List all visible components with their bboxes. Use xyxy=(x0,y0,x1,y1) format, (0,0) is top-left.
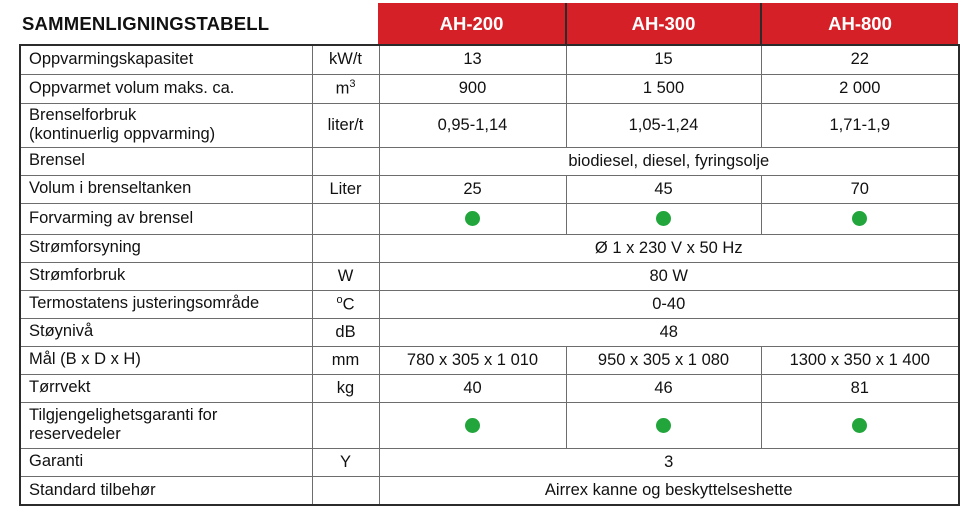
row-value-ah-800 xyxy=(761,402,959,448)
row-value-ah-800: 1,71-1,9 xyxy=(761,103,959,147)
row-unit: W xyxy=(312,262,379,290)
row-value-merged: 80 W xyxy=(379,262,959,290)
table-row: StrømforbrukW80 W xyxy=(20,262,959,290)
page-title: SAMMENLIGNINGSTABELL xyxy=(22,13,269,35)
row-unit: dB xyxy=(312,318,379,346)
row-unit: liter/t xyxy=(312,103,379,147)
table-row: Brenselbiodiesel, diesel, fyringsolje xyxy=(20,147,959,175)
row-label: Standard tilbehør xyxy=(20,476,312,505)
row-value-merged: 0-40 xyxy=(379,290,959,318)
row-label: Brensel xyxy=(20,147,312,175)
row-value-ah-200 xyxy=(379,203,566,234)
table-row: Mål (B x D x H)mm780 x 305 x 1 010950 x … xyxy=(20,346,959,374)
row-value-ah-800: 1300 x 350 x 1 400 xyxy=(761,346,959,374)
row-value-ah-300 xyxy=(566,402,761,448)
row-value-merged: Airrex kanne og beskyttelseshette xyxy=(379,476,959,505)
row-value-ah-300: 1,05-1,24 xyxy=(566,103,761,147)
column-header-ah-800: AH-800 xyxy=(760,3,958,44)
row-value-ah-200: 780 x 305 x 1 010 xyxy=(379,346,566,374)
row-label: Termostatens justeringsområde xyxy=(20,290,312,318)
included-dot-icon xyxy=(852,418,867,433)
table-row: Volum i brenseltankenLiter254570 xyxy=(20,175,959,203)
row-value-ah-300 xyxy=(566,203,761,234)
row-value-ah-300: 46 xyxy=(566,374,761,402)
table-row: Standard tilbehørAirrex kanne og beskytt… xyxy=(20,476,959,505)
table-row: OppvarmingskapasitetkW/t131522 xyxy=(20,45,959,74)
row-label: Oppvarmet volum maks. ca. xyxy=(20,74,312,103)
row-value-ah-200: 900 xyxy=(379,74,566,103)
row-unit: Y xyxy=(312,448,379,476)
row-unit xyxy=(312,147,379,175)
table-row: Forvarming av brensel xyxy=(20,203,959,234)
row-value-ah-800: 70 xyxy=(761,175,959,203)
row-unit: kW/t xyxy=(312,45,379,74)
included-dot-icon xyxy=(656,211,671,226)
row-value-merged: 48 xyxy=(379,318,959,346)
row-value-ah-300: 1 500 xyxy=(566,74,761,103)
column-header-ah-300: AH-300 xyxy=(565,3,760,44)
row-value-merged: Ø 1 x 230 V x 50 Hz xyxy=(379,234,959,262)
comparison-table-sheet: SAMMENLIGNINGSTABELL AH-200 AH-300 AH-80… xyxy=(0,0,960,528)
table-row: Oppvarmet volum maks. ca.m39001 5002 000 xyxy=(20,74,959,103)
included-dot-icon xyxy=(656,418,671,433)
row-value-ah-300: 15 xyxy=(566,45,761,74)
table-row: Tilgjengelighetsgaranti forreservedeler xyxy=(20,402,959,448)
row-value-merged: 3 xyxy=(379,448,959,476)
row-unit xyxy=(312,203,379,234)
row-label: Støynivå xyxy=(20,318,312,346)
row-label: Brenselforbruk(kontinuerlig oppvarming) xyxy=(20,103,312,147)
table-title-band: SAMMENLIGNINGSTABELL AH-200 AH-300 AH-80… xyxy=(0,0,960,44)
row-label: Strømforbruk xyxy=(20,262,312,290)
row-value-ah-200: 13 xyxy=(379,45,566,74)
row-label: Strømforsyning xyxy=(20,234,312,262)
row-label: Volum i brenseltanken xyxy=(20,175,312,203)
row-unit: m3 xyxy=(312,74,379,103)
row-label: Mål (B x D x H) xyxy=(20,346,312,374)
row-value-ah-800: 22 xyxy=(761,45,959,74)
row-value-ah-800: 81 xyxy=(761,374,959,402)
row-value-ah-200: 0,95-1,14 xyxy=(379,103,566,147)
row-label: Garanti xyxy=(20,448,312,476)
row-value-ah-200: 25 xyxy=(379,175,566,203)
table-row: Tørrvektkg404681 xyxy=(20,374,959,402)
row-label: Oppvarmingskapasitet xyxy=(20,45,312,74)
row-label: Tilgjengelighetsgaranti forreservedeler xyxy=(20,402,312,448)
row-value-ah-300: 45 xyxy=(566,175,761,203)
row-unit xyxy=(312,234,379,262)
included-dot-icon xyxy=(465,418,480,433)
included-dot-icon xyxy=(852,211,867,226)
table-row: Termostatens justeringsområdeoC0-40 xyxy=(20,290,959,318)
row-value-merged: biodiesel, diesel, fyringsolje xyxy=(379,147,959,175)
spec-table: OppvarmingskapasitetkW/t131522Oppvarmet … xyxy=(19,44,960,506)
table-row: GarantiY3 xyxy=(20,448,959,476)
row-value-ah-800 xyxy=(761,203,959,234)
table-row: Brenselforbruk(kontinuerlig oppvarming)l… xyxy=(20,103,959,147)
row-unit: Liter xyxy=(312,175,379,203)
included-dot-icon xyxy=(465,211,480,226)
row-unit xyxy=(312,402,379,448)
column-header-ah-200: AH-200 xyxy=(378,3,565,44)
row-label: Tørrvekt xyxy=(20,374,312,402)
table-row: StøynivådB48 xyxy=(20,318,959,346)
row-value-ah-300: 950 x 305 x 1 080 xyxy=(566,346,761,374)
row-value-ah-200: 40 xyxy=(379,374,566,402)
row-value-ah-200 xyxy=(379,402,566,448)
table-row: StrømforsyningØ 1 x 230 V x 50 Hz xyxy=(20,234,959,262)
row-unit: mm xyxy=(312,346,379,374)
row-unit: oC xyxy=(312,290,379,318)
row-value-ah-800: 2 000 xyxy=(761,74,959,103)
row-label: Forvarming av brensel xyxy=(20,203,312,234)
table-body: OppvarmingskapasitetkW/t131522Oppvarmet … xyxy=(20,45,959,505)
row-unit: kg xyxy=(312,374,379,402)
row-unit xyxy=(312,476,379,505)
